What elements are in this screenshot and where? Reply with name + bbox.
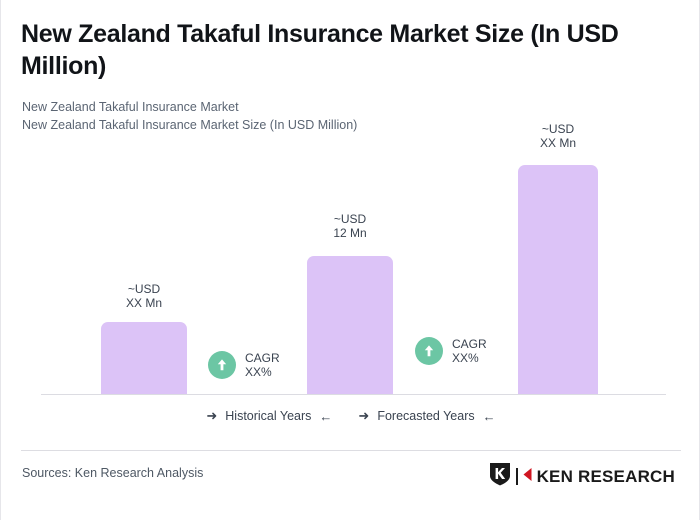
arrow-left-icon: ←	[319, 409, 332, 424]
cagr-label-2: CAGR XX%	[452, 337, 487, 365]
chart-page: New Zealand Takaful Insurance Market Siz…	[0, 0, 700, 520]
bar-2[interactable]	[307, 256, 393, 394]
chart-subtitle-market: New Zealand Takaful Insurance Market	[22, 98, 239, 116]
period-label-historical: Historical Years	[225, 409, 311, 423]
bar-chart-plot: ~USD XX Mn CAGR XX% ~USD 12 Mn	[1, 130, 700, 395]
shield-k-icon	[489, 462, 511, 491]
arrow-right-icon: ➜	[206, 408, 217, 424]
bar-1[interactable]	[101, 322, 187, 394]
arrow-up-icon	[208, 351, 236, 379]
period-historical: ➜ Historical Years ←	[206, 408, 332, 424]
cagr-label-1: CAGR XX%	[245, 351, 280, 379]
footer-divider	[21, 450, 681, 451]
period-legend: ➜ Historical Years ← ➜ Forecasted Years …	[1, 408, 700, 424]
arrow-left-icon: ←	[483, 409, 496, 424]
arrow-up-icon	[415, 337, 443, 365]
logo-wordmark: KEN RESEARCH	[537, 468, 675, 485]
bar-value-label-2: ~USD 12 Mn	[307, 212, 393, 240]
cagr-annotation-2: CAGR XX%	[415, 337, 487, 365]
cagr-annotation-1: CAGR XX%	[208, 351, 280, 379]
period-forecasted: ➜ Forecasted Years ←	[358, 408, 495, 424]
ken-research-logo: KEN RESEARCH	[489, 462, 675, 491]
logo-divider-bar	[516, 468, 518, 485]
bar-value-label-1: ~USD XX Mn	[101, 282, 187, 310]
bar-3[interactable]	[518, 165, 598, 394]
period-label-forecasted: Forecasted Years	[377, 409, 474, 423]
sources-text: Sources: Ken Research Analysis	[22, 466, 203, 480]
page-title: New Zealand Takaful Insurance Market Siz…	[21, 18, 671, 82]
bar-value-label-3: ~USD XX Mn	[515, 122, 601, 150]
logo-red-accent	[523, 466, 532, 488]
arrow-right-icon: ➜	[358, 408, 369, 424]
x-axis-line	[41, 394, 666, 395]
